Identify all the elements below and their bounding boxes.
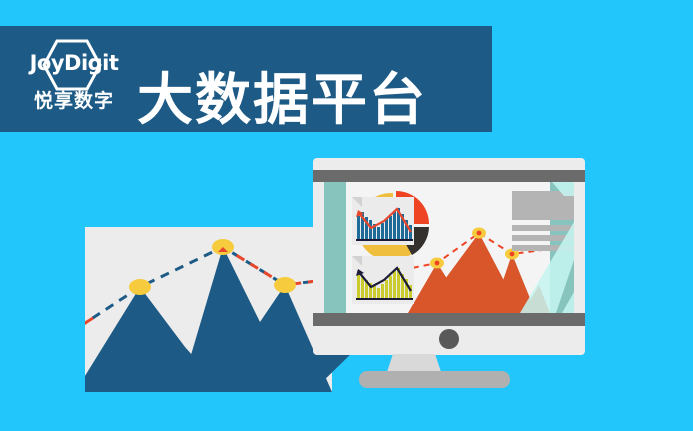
monitor-stand-base [359, 371, 510, 388]
monitor-power-indicator [439, 329, 459, 349]
axis-line [356, 239, 413, 241]
marker-dot [477, 231, 482, 236]
blue-mountain-chart [85, 227, 332, 392]
illustration-canvas: JoyDigit 悦享数字 大数据平台 [0, 0, 693, 431]
blue-bar-chart-card[interactable] [352, 197, 414, 245]
monitor-bottom-bar [313, 313, 585, 326]
monitor-screen[interactable] [324, 182, 574, 313]
dashboard-graphics [324, 182, 574, 313]
trend-line-start-red [85, 318, 93, 327]
axis-line [356, 298, 413, 300]
placeholder-line [512, 225, 574, 231]
header-banner: JoyDigit 悦享数字 大数据平台 [0, 26, 492, 132]
logo-wordmark: JoyDigit [14, 51, 134, 75]
logo-subtitle: 悦享数字 [14, 86, 134, 113]
monitor-device [313, 158, 585, 355]
olive-bar-chart-card[interactable] [352, 256, 414, 304]
data-marker[interactable] [274, 277, 296, 293]
monitor-top-bar [313, 170, 585, 182]
data-marker[interactable] [129, 279, 151, 295]
blue-mountain-chart-panel [85, 227, 332, 392]
marker-dot [435, 261, 440, 266]
brand-logo: JoyDigit 悦享数字 [14, 34, 134, 124]
glare-stripe-small [562, 292, 574, 313]
marker-dot [510, 252, 515, 257]
page-title: 大数据平台 [137, 70, 427, 130]
